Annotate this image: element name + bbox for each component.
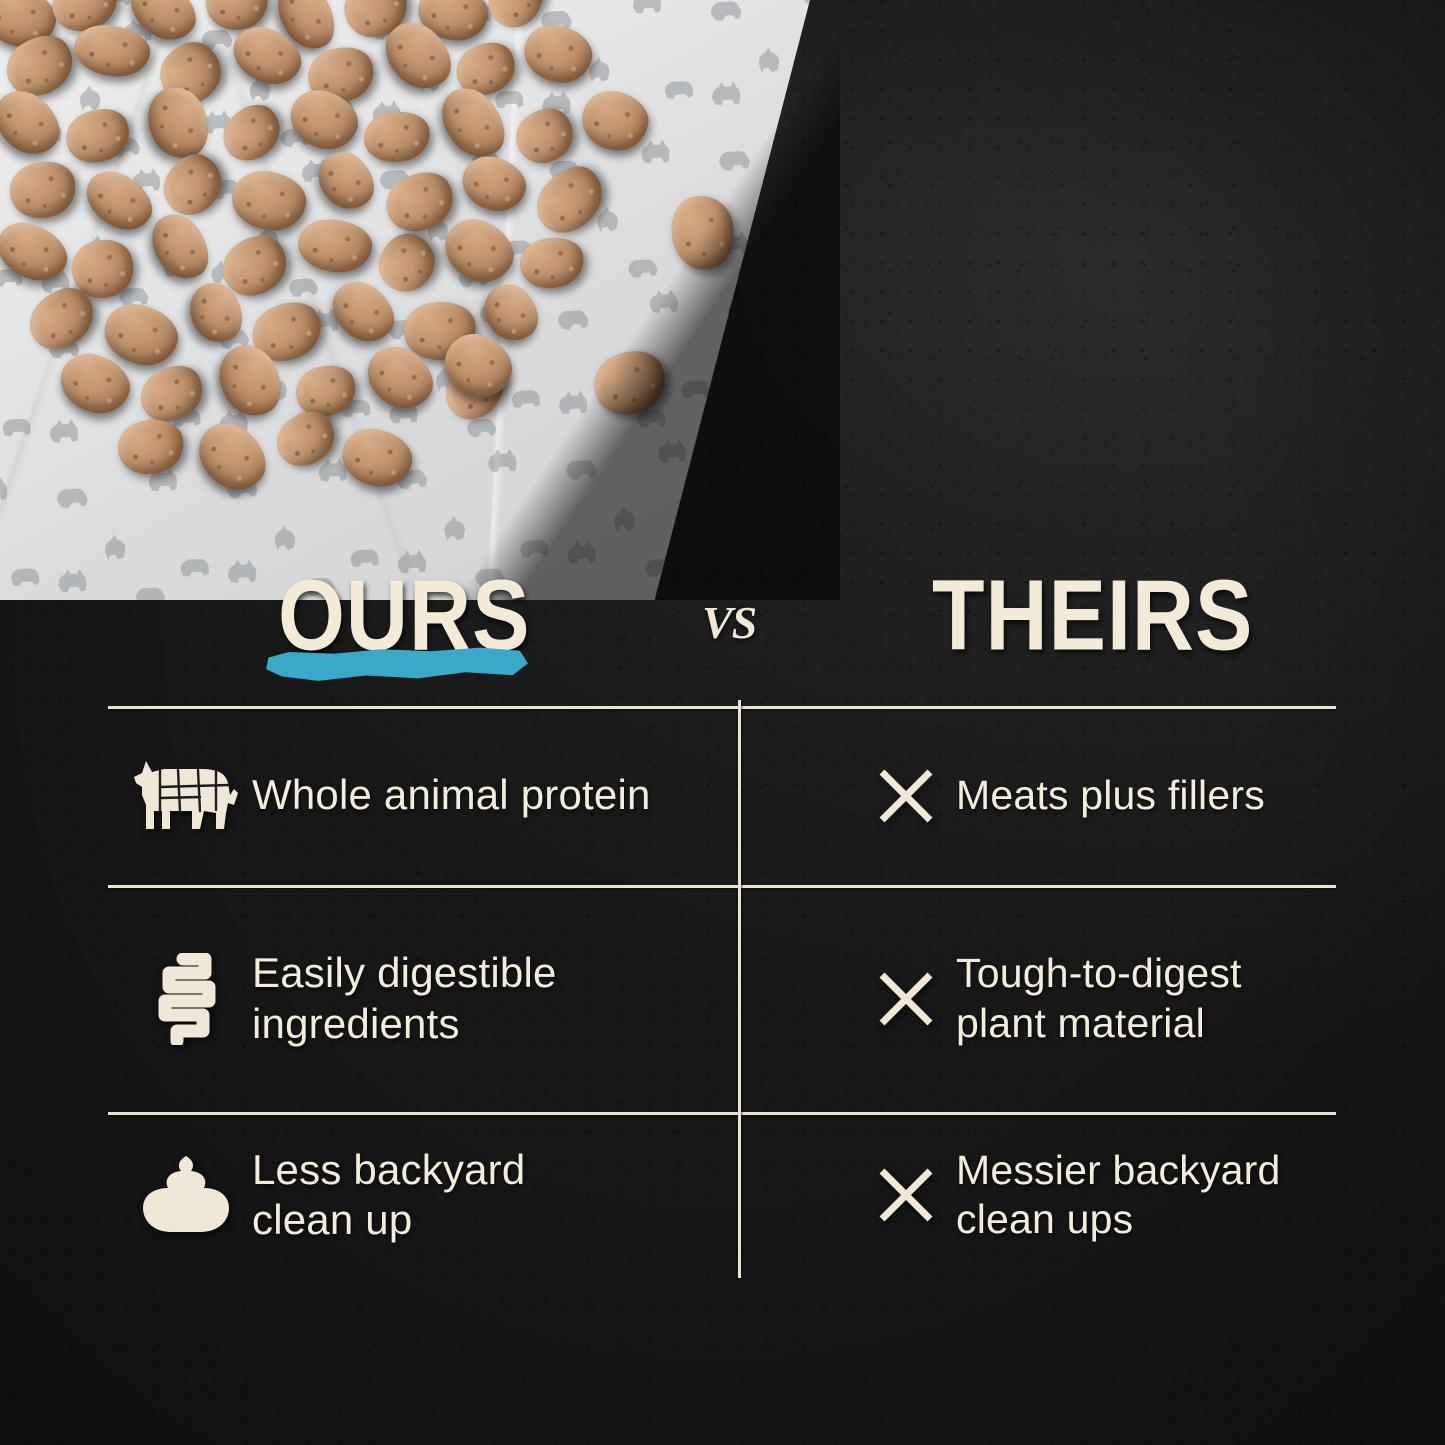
parchment-paper: BUTCHER'S CUT KITCHEN — [0, 0, 840, 600]
theirs-row-label: Tough-to-digest plant material — [956, 949, 1242, 1047]
theirs-cell: Meats plus fillers — [738, 706, 1336, 885]
x-mark-icon — [856, 1165, 956, 1225]
stool-icon — [120, 1154, 252, 1236]
product-photo: BUTCHER'S CUT KITCHEN — [0, 0, 840, 600]
theirs-heading: THEIRS — [932, 566, 1253, 666]
ours-row-label: Whole animal protein — [252, 770, 651, 820]
intestine-icon — [120, 953, 252, 1045]
animal-silhouette-pattern — [0, 0, 840, 600]
table-row: Whole animal protein Meats plus fillers — [108, 706, 1336, 885]
cow-butcher-cuts-icon — [120, 753, 252, 839]
ours-cell: Whole animal protein — [108, 706, 738, 885]
theirs-cell: Messier backyard clean ups — [738, 1112, 1336, 1278]
table-row: Less backyard clean up Messier backyard … — [108, 1112, 1336, 1278]
x-mark-icon — [856, 969, 956, 1029]
comparison-table: Whole animal protein Meats plus fillers — [108, 700, 1336, 1280]
x-mark-icon — [856, 766, 956, 826]
product-comparison-graphic: BUTCHER'S CUT KITCHEN — [0, 0, 1445, 1445]
ours-row-label: Easily digestible ingredients — [252, 948, 557, 1049]
ours-cell: Less backyard clean up — [108, 1112, 738, 1278]
ours-row-label: Less backyard clean up — [252, 1145, 525, 1246]
table-row: Easily digestible ingredients Tough-to-d… — [108, 885, 1336, 1112]
ours-cell: Easily digestible ingredients — [108, 885, 738, 1112]
theirs-cell: Tough-to-digest plant material — [738, 885, 1336, 1112]
vs-label: VS — [702, 596, 756, 649]
theirs-row-label: Messier backyard clean ups — [956, 1146, 1280, 1244]
theirs-row-label: Meats plus fillers — [956, 771, 1265, 820]
